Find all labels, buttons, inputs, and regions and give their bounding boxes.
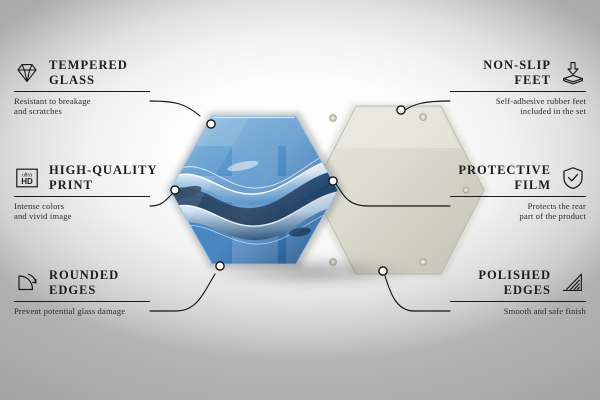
feature-rounded-edges: ROUNDEDEDGES Prevent potential glass dam…: [14, 268, 250, 316]
feature-header: ultra HD HIGH-QUALITYPRINT: [14, 163, 250, 192]
feature-high-quality-print: ultra HD HIGH-QUALITYPRINT Intense color…: [14, 163, 250, 221]
feature-title: POLISHEDEDGES: [350, 268, 551, 297]
feature-divider: [14, 301, 150, 302]
press-down-pad-icon: [560, 60, 586, 86]
feature-description: Protects the rearpart of the product: [350, 201, 586, 222]
feature-polished-edges: POLISHEDEDGES Smooth and safe finish: [350, 268, 586, 316]
feature-header: ROUNDEDEDGES: [14, 268, 250, 297]
feature-divider: [450, 196, 586, 197]
rounded-corner-icon: [14, 270, 40, 296]
feature-divider: [450, 301, 586, 302]
feature-title: NON-SLIPFEET: [350, 58, 551, 87]
feature-divider: [14, 91, 150, 92]
feature-header: NON-SLIPFEET: [350, 58, 586, 87]
svg-text:HD: HD: [21, 177, 33, 186]
feature-header: TEMPEREDGLASS: [14, 58, 250, 87]
feature-description: Smooth and safe finish: [350, 306, 586, 316]
ultra-hd-icon: ultra HD: [14, 165, 40, 191]
feature-header: PROTECTIVEFILM: [350, 163, 586, 192]
feature-description: Prevent potential glass damage: [14, 306, 250, 316]
feature-description: Resistant to breakageand scratches: [14, 96, 250, 117]
feature-divider: [14, 196, 150, 197]
shield-check-icon: [560, 165, 586, 191]
feature-protective-film: PROTECTIVEFILM Protects the rearpart of …: [350, 163, 586, 221]
feature-title: TEMPEREDGLASS: [49, 58, 250, 87]
feature-header: POLISHEDEDGES: [350, 268, 586, 297]
feature-description: Self-adhesive rubber feetincluded in the…: [350, 96, 586, 117]
feature-non-slip-feet: NON-SLIPFEET Self-adhesive rubber feetin…: [350, 58, 586, 116]
hatched-triangle-icon: [560, 270, 586, 296]
feature-title: PROTECTIVEFILM: [350, 163, 551, 192]
feature-title: HIGH-QUALITYPRINT: [49, 163, 250, 192]
feature-title: ROUNDEDEDGES: [49, 268, 250, 297]
infographic-canvas: TEMPEREDGLASS Resistant to breakageand s…: [0, 0, 600, 400]
feature-description: Intense colorsand vivid image: [14, 201, 250, 222]
feature-tempered-glass: TEMPEREDGLASS Resistant to breakageand s…: [14, 58, 250, 116]
diamond-icon: [14, 60, 40, 86]
feature-divider: [450, 91, 586, 92]
